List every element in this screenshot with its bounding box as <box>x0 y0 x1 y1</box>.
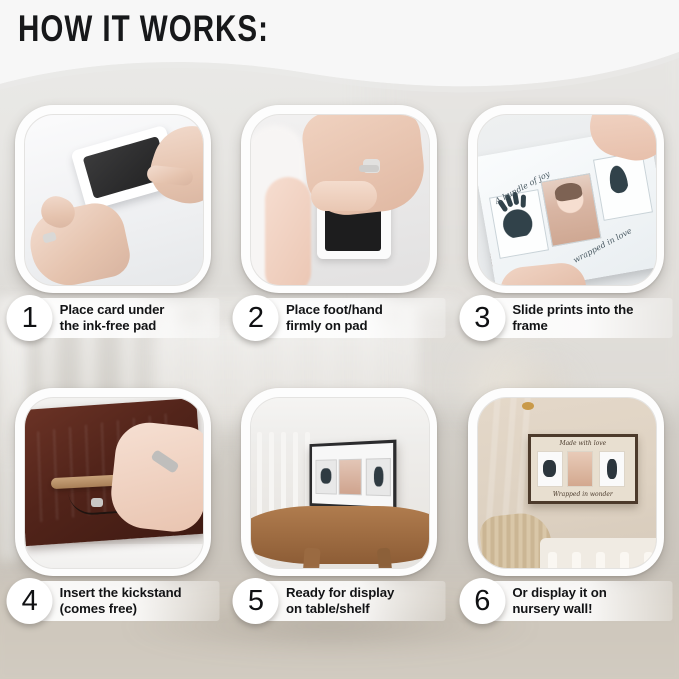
keepsake-frame <box>310 440 397 511</box>
step-cell-3: A bundle of joy wrapped in love 3 Slide … <box>453 105 679 310</box>
step-line1-6: Or display it on <box>512 585 672 601</box>
step-badge-1: 1 <box>7 295 53 341</box>
step-line1-3: Slide prints into the <box>512 302 672 318</box>
tile-inner-1 <box>24 114 204 286</box>
photo-prints-sliding-into-frame: A bundle of joy wrapped in love <box>478 115 656 285</box>
baby-hair <box>553 181 583 202</box>
tile-inner-5 <box>250 397 430 569</box>
baby-toes <box>311 181 377 211</box>
baby-leg <box>265 177 311 285</box>
tile-inner-4 <box>24 397 204 569</box>
step-line2-1: the ink-free pad <box>60 318 220 334</box>
wooden-table-top <box>251 506 429 564</box>
how-it-works-infographic: HOW IT WORKS: <box>0 0 679 679</box>
step-cell-4: 4 Insert the kickstand (comes free) <box>0 388 226 593</box>
step-photo-tile-5[interactable] <box>241 388 437 576</box>
handprint-window <box>316 459 337 494</box>
step-text-2: Place foot/hand firmly on pad <box>286 298 446 338</box>
wall-frame-script-bottom: Wrapped in wonder <box>553 491 613 498</box>
step-label-3: 3 Slide prints into the frame <box>459 295 672 341</box>
step-cell-5: 5 Ready for display on table/shelf <box>226 388 452 593</box>
footprint-window <box>599 451 625 487</box>
step-photo-tile-6[interactable]: Made with love Wrapped in wonder <box>468 388 664 576</box>
step-photo-tile-1[interactable] <box>15 105 211 293</box>
step-photo-tile-2[interactable] <box>241 105 437 293</box>
step-badge-6: 6 <box>459 578 505 624</box>
baby-photo-window <box>567 451 593 487</box>
photo-hands-placing-card-under-ink-free-pad <box>25 115 203 285</box>
step-photo-tile-3[interactable]: A bundle of joy wrapped in love <box>468 105 664 293</box>
step-line2-3: frame <box>512 318 672 334</box>
photo-baby-foot-pressed-on-ink-pad <box>251 115 429 285</box>
step-badge-3: 3 <box>459 295 505 341</box>
white-table <box>25 544 203 568</box>
step-badge-4: 4 <box>7 578 53 624</box>
step-line1-5: Ready for display <box>286 585 446 601</box>
crib <box>540 538 656 568</box>
tile-inner-2 <box>250 114 430 286</box>
step-line1-1: Place card under <box>60 302 220 318</box>
step-label-2: 2 Place foot/hand firmly on pad <box>233 295 446 341</box>
curtain-hook <box>522 402 534 410</box>
step-label-4: 4 Insert the kickstand (comes free) <box>7 578 220 624</box>
step-badge-2: 2 <box>233 295 279 341</box>
baby-photo-window <box>339 459 362 496</box>
handprint <box>499 201 534 240</box>
step-line2-4: (comes free) <box>60 601 220 617</box>
tile-inner-6: Made with love Wrapped in wonder <box>477 397 657 569</box>
steps-grid: 1 Place card under the ink-free pad <box>0 105 679 593</box>
kickstand-screw <box>91 498 103 507</box>
step-line2-6: nursery wall! <box>512 601 672 617</box>
step-line1-2: Place foot/hand <box>286 302 446 318</box>
step-cell-1: 1 Place card under the ink-free pad <box>0 105 226 310</box>
step-photo-tile-4[interactable] <box>15 388 211 576</box>
step-line2-2: firmly on pad <box>286 318 446 334</box>
photo-frame-hanging-on-nursery-wall: Made with love Wrapped in wonder <box>478 398 656 568</box>
hand <box>108 419 203 534</box>
step-label-5: 5 Ready for display on table/shelf <box>233 578 446 624</box>
step-cell-2: 2 Place foot/hand firmly on pad <box>226 105 452 310</box>
wall-keepsake-frame: Made with love Wrapped in wonder <box>528 434 638 504</box>
step-text-4: Insert the kickstand (comes free) <box>60 581 220 621</box>
step-text-1: Place card under the ink-free pad <box>60 298 220 338</box>
photo-frame-displayed-on-wooden-table <box>251 398 429 568</box>
step-cell-6: Made with love Wrapped in wonder <box>453 388 679 593</box>
baby-photo <box>542 174 600 245</box>
footprint-window <box>366 458 391 496</box>
step-label-1: 1 Place card under the ink-free pad <box>7 295 220 341</box>
step-text-6: Or display it on nursery wall! <box>512 581 672 621</box>
page-title: HOW IT WORKS: <box>18 8 269 50</box>
tile-inner-3: A bundle of joy wrapped in love <box>477 114 657 286</box>
engagement-ring <box>359 165 379 172</box>
step-line2-5: on table/shelf <box>286 601 446 617</box>
table-leg-1 <box>302 547 321 568</box>
step-text-5: Ready for display on table/shelf <box>286 581 446 621</box>
wall-frame-script-top: Made with love <box>559 440 606 447</box>
frame-mat <box>313 443 394 507</box>
step-badge-5: 5 <box>233 578 279 624</box>
handprint-window <box>537 451 563 487</box>
photo-inserting-wooden-kickstand-into-frame-back <box>25 398 203 568</box>
step-text-3: Slide prints into the frame <box>512 298 672 338</box>
step-line1-4: Insert the kickstand <box>60 585 220 601</box>
step-label-6: 6 Or display it on nursery wall! <box>459 578 672 624</box>
